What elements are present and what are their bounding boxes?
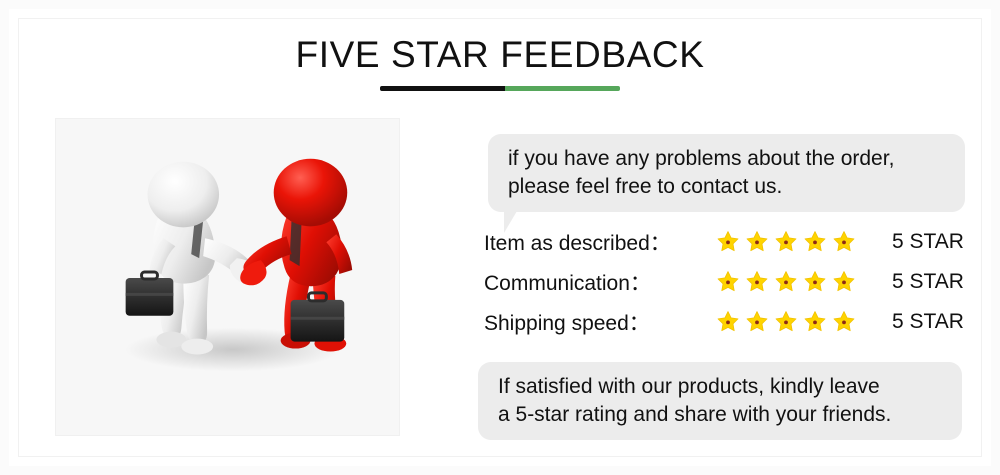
star-icon — [774, 230, 798, 254]
star-icon — [832, 230, 856, 254]
star-icon — [745, 230, 769, 254]
rating-row-shipping-speed: Shipping speed： 5 STAR — [484, 302, 984, 342]
star-icon — [716, 310, 740, 334]
rating-stars — [716, 270, 866, 294]
star-icon — [745, 270, 769, 294]
rating-value: 5 STAR — [866, 270, 964, 294]
review-request-line-2: a 5-star rating and share with your frie… — [498, 401, 944, 429]
star-icon — [774, 310, 798, 334]
briefcase-right — [291, 293, 345, 342]
feedback-content: if you have any problems about the order… — [470, 118, 970, 436]
star-icon — [803, 310, 827, 334]
rating-value: 5 STAR — [866, 310, 964, 334]
rating-label: Communication： — [484, 267, 716, 297]
star-icon — [716, 270, 740, 294]
star-icon — [803, 270, 827, 294]
contact-message-bubble: if you have any problems about the order… — [488, 134, 965, 212]
handshake-illustration — [56, 119, 399, 435]
star-icon — [774, 270, 798, 294]
feedback-banner: FIVE STAR FEEDBACK — [0, 0, 1000, 475]
rating-label: Item as described： — [484, 227, 716, 257]
rating-row-communication: Communication： 5 STAR — [484, 262, 984, 302]
star-icon — [803, 230, 827, 254]
rating-label: Shipping speed： — [484, 307, 716, 337]
contact-message-line-1: if you have any problems about the order… — [508, 145, 947, 173]
review-request-bubble: If satisfied with our products, kindly l… — [478, 362, 962, 440]
title-underline-green-segment — [505, 86, 620, 91]
title-underline-black-segment — [380, 86, 505, 91]
page-title: FIVE STAR FEEDBACK — [0, 34, 1000, 76]
star-icon — [832, 270, 856, 294]
rating-stars — [716, 310, 866, 334]
star-icon — [832, 310, 856, 334]
contact-message-line-2: please feel free to contact us. — [508, 173, 947, 201]
title-underline — [380, 86, 620, 91]
briefcase-left — [126, 272, 174, 316]
handshake-illustration-panel — [55, 118, 400, 436]
rating-list: Item as described： 5 STAR Communication： — [484, 222, 984, 342]
rating-stars — [716, 230, 866, 254]
review-request-line-1: If satisfied with our products, kindly l… — [498, 373, 944, 401]
star-icon — [745, 310, 769, 334]
rating-row-item-as-described: Item as described： 5 STAR — [484, 222, 984, 262]
star-icon — [716, 230, 740, 254]
rating-value: 5 STAR — [866, 230, 964, 254]
